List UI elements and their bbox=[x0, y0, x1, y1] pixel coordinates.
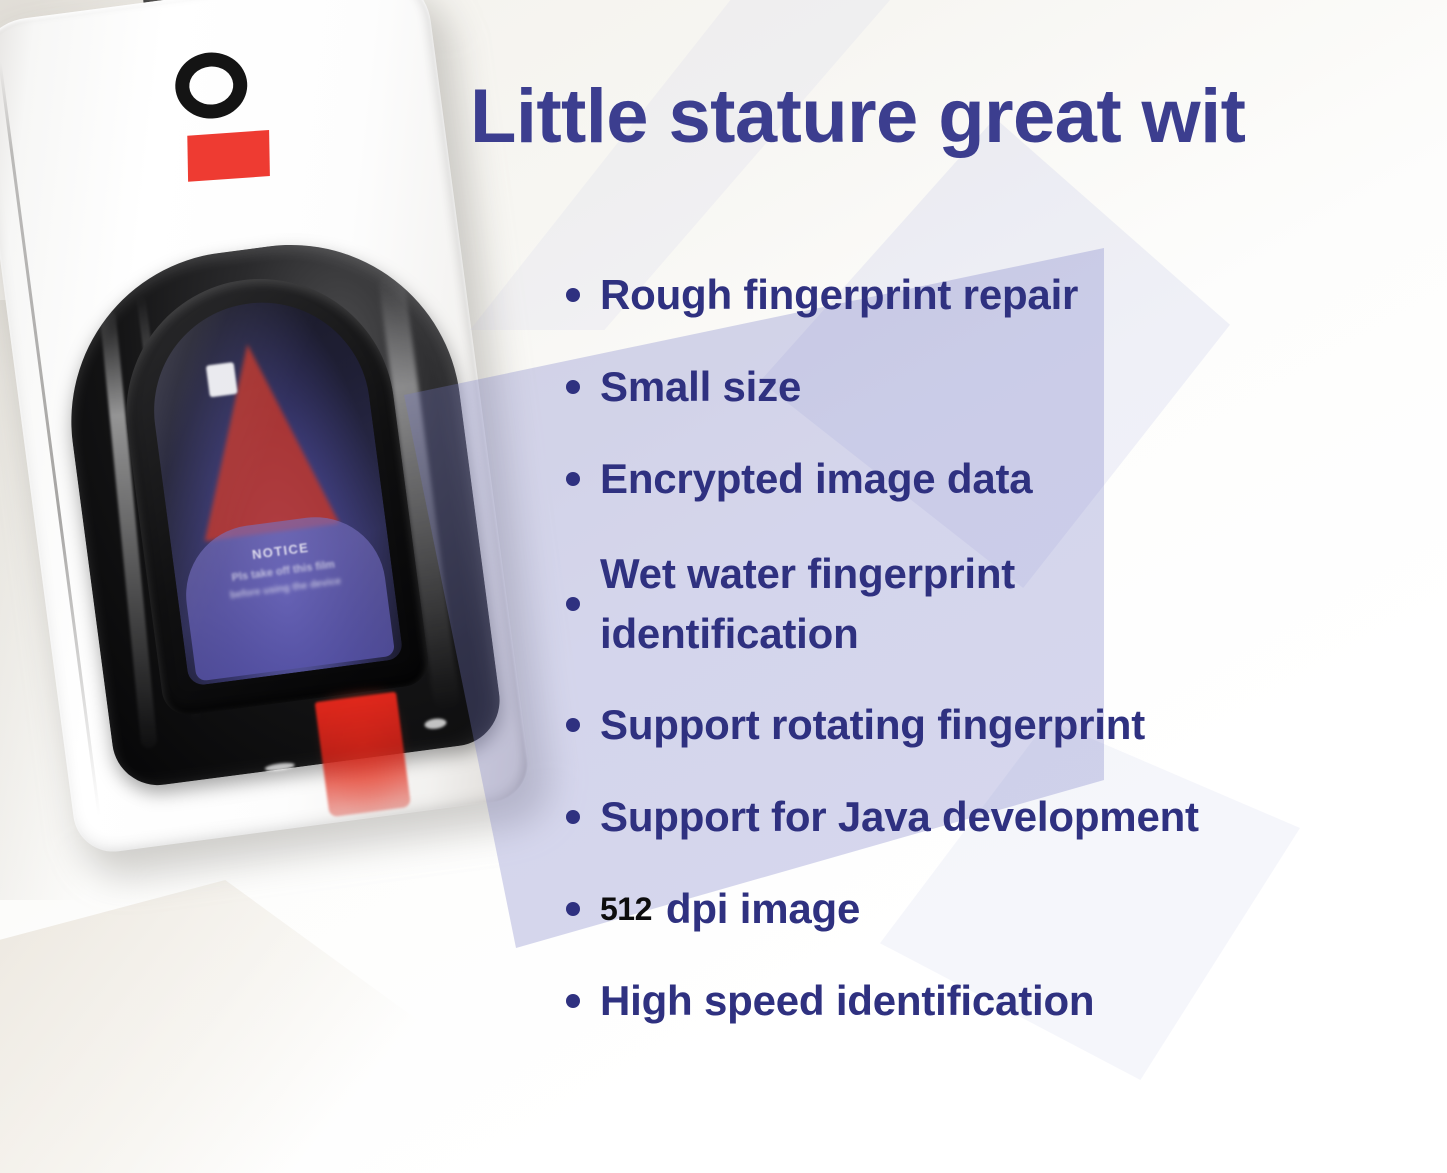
list-item: Encrypted image data bbox=[566, 446, 1426, 512]
bullet-label: dpi image bbox=[666, 879, 860, 939]
feature-bullet-list: Rough fingerprint repair Small size Encr… bbox=[566, 262, 1426, 1060]
bullet-dot-icon bbox=[566, 597, 580, 611]
bullet-dot-icon bbox=[566, 718, 580, 732]
list-item: High speed identification bbox=[566, 968, 1426, 1034]
list-item: Wet water fingerprint identification bbox=[566, 538, 1426, 670]
list-item: Support rotating fingerprint bbox=[566, 692, 1426, 758]
bullet-label: Wet water fingerprint identification bbox=[600, 544, 1015, 663]
bullet-dot-icon bbox=[566, 810, 580, 824]
list-item: Rough fingerprint repair bbox=[566, 262, 1426, 328]
bullet-label: Small size bbox=[600, 357, 801, 417]
list-item: Support for Java development bbox=[566, 784, 1426, 850]
dpi-value: 512 bbox=[600, 891, 652, 928]
slide-title: Little stature great wit bbox=[470, 78, 1410, 156]
red-led-indicator bbox=[315, 692, 411, 818]
brand-red-rectangle-icon bbox=[187, 130, 270, 182]
bullet-label: High speed identification bbox=[600, 971, 1094, 1031]
list-item: Small size bbox=[566, 354, 1426, 420]
bullet-label: Encrypted image data bbox=[600, 449, 1032, 509]
bullet-dot-icon bbox=[566, 288, 580, 302]
slide-canvas: NOTICE Pls take off this film before usi… bbox=[0, 0, 1447, 1173]
bullet-label: Rough fingerprint repair bbox=[600, 265, 1078, 325]
bullet-label: Support for Java development bbox=[600, 787, 1199, 847]
list-item: 512 dpi image bbox=[566, 876, 1426, 942]
bullet-label: Support rotating fingerprint bbox=[600, 695, 1145, 755]
desk-diagonal-edge bbox=[0, 880, 560, 1173]
bullet-dot-icon bbox=[566, 994, 580, 1008]
bullet-dot-icon bbox=[566, 380, 580, 394]
bullet-dot-icon bbox=[566, 472, 580, 486]
bullet-dot-icon bbox=[566, 902, 580, 916]
